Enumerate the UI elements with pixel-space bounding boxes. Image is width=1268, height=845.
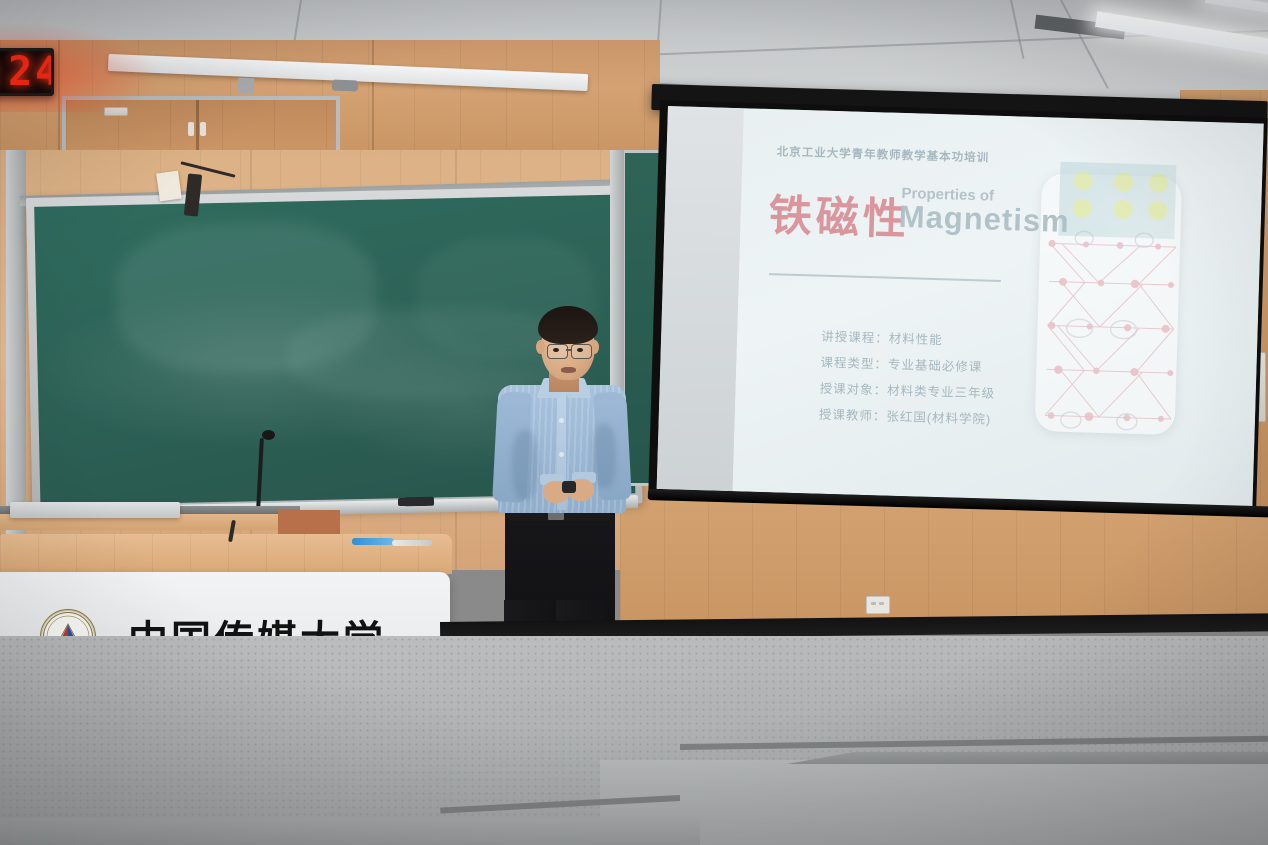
cabinet-handle[interactable] <box>200 122 206 136</box>
slide-meta-label-2: 课程类型： <box>820 356 888 372</box>
slide-meta-label-3: 授课对象： <box>819 382 887 398</box>
stage-lower-tier <box>0 818 700 845</box>
blue-marker[interactable] <box>352 538 394 545</box>
presenter-eye-right <box>577 348 583 352</box>
presentation-slide: 北京工业大学青年教师教学基本功培训 铁磁性 Properties of Magn… <box>733 108 1264 506</box>
projector-screen: 北京工业大学青年教师教学基本功培训 铁磁性 Properties of Magn… <box>657 106 1264 507</box>
slide-meta-label-4: 授课教师： <box>819 408 887 424</box>
presenter-ear-left <box>536 340 545 354</box>
wall-panel-seam <box>58 40 60 160</box>
slide-meta-value-4: 张红国(材料学院) <box>886 410 991 427</box>
glasses-bridge <box>566 349 571 351</box>
cabinet-handle[interactable] <box>188 122 194 136</box>
desk-remote[interactable] <box>398 498 428 506</box>
screen-left-border <box>657 106 744 491</box>
slide-meta-value-1: 材料性能 <box>889 332 943 348</box>
shirt-button <box>559 452 564 457</box>
microphone-head <box>262 430 275 440</box>
podium-monitor[interactable] <box>10 502 180 518</box>
taped-paper <box>156 171 182 202</box>
slide-title-chinese: 铁磁性 <box>768 181 911 247</box>
stage-platform <box>600 760 1268 845</box>
clock-digits: :24 <box>0 49 54 95</box>
wall-panel-seam <box>372 40 374 160</box>
outlet-slot <box>871 602 876 605</box>
wall-label-plate <box>104 107 128 116</box>
presenter-mouth <box>561 367 576 373</box>
light-bracket <box>238 78 255 95</box>
lecture-hall-photo: :24 <box>0 0 1268 845</box>
wall-outlet[interactable] <box>866 596 890 614</box>
white-marker[interactable] <box>392 540 432 546</box>
slide-meta-label-1: 讲授课程： <box>821 330 889 346</box>
slide-texture-patch <box>1058 162 1176 239</box>
slide-meta-value-2: 专业基础必修课 <box>888 358 983 375</box>
crystal-lattice-icon <box>1034 229 1186 441</box>
board-side-rail <box>6 150 26 540</box>
shirt-button <box>559 418 564 423</box>
slide-meta-line-1: 讲授课程：材料性能 <box>821 326 943 349</box>
shirt-fold <box>512 430 538 500</box>
led-clock: :24 <box>0 48 54 96</box>
presenter-eye-left <box>553 348 559 352</box>
ceiling-camera <box>332 80 358 92</box>
presentation-clicker[interactable] <box>562 481 576 493</box>
outlet-slot <box>879 602 884 605</box>
slide-title-english: Magnetism <box>898 199 1070 240</box>
slide-meta-value-3: 材料类专业三年级 <box>887 384 995 401</box>
